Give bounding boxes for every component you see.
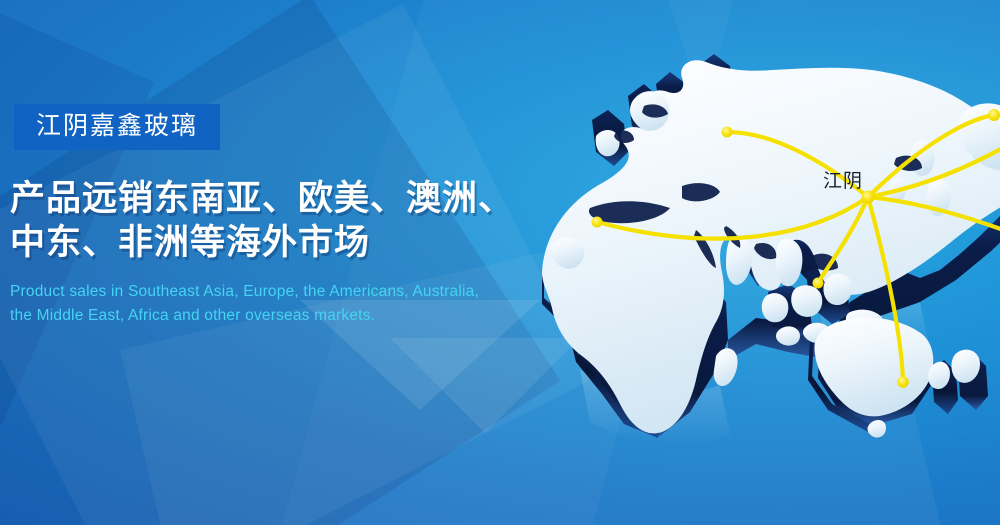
- endpoint-north-pacific: [988, 109, 1000, 121]
- subheadline-line-2: the Middle East, Africa and other overse…: [10, 304, 560, 328]
- endpoint-northern-europe: [722, 127, 733, 138]
- headline-line-1: 产品远销东南亚、欧美、澳洲、: [10, 178, 560, 222]
- subheadline: Product sales in Southeast Asia, Europe,…: [10, 280, 560, 328]
- endpoint-australia: [897, 376, 909, 388]
- map-city-label: 江阴: [823, 166, 863, 193]
- brand-badge: 江阴嘉鑫玻璃: [14, 104, 220, 150]
- headline-line-2: 中东、非洲等海外市场: [10, 222, 560, 266]
- endpoint-southeast-asia: [813, 278, 824, 289]
- hub-point-jiangyin: [862, 191, 875, 204]
- world-map: [520, 40, 1000, 470]
- endpoint-west-africa: [592, 217, 603, 228]
- hero-banner: 江阴 江阴嘉鑫玻璃 产品远销东南亚、欧美、澳洲、 中东、非洲等海外市场 Prod…: [0, 0, 1000, 525]
- headline: 产品远销东南亚、欧美、澳洲、 中东、非洲等海外市场: [10, 178, 560, 266]
- banner-copy: 江阴嘉鑫玻璃 产品远销东南亚、欧美、澳洲、 中东、非洲等海外市场 Product…: [0, 104, 560, 328]
- subheadline-line-1: Product sales in Southeast Asia, Europe,…: [10, 280, 560, 304]
